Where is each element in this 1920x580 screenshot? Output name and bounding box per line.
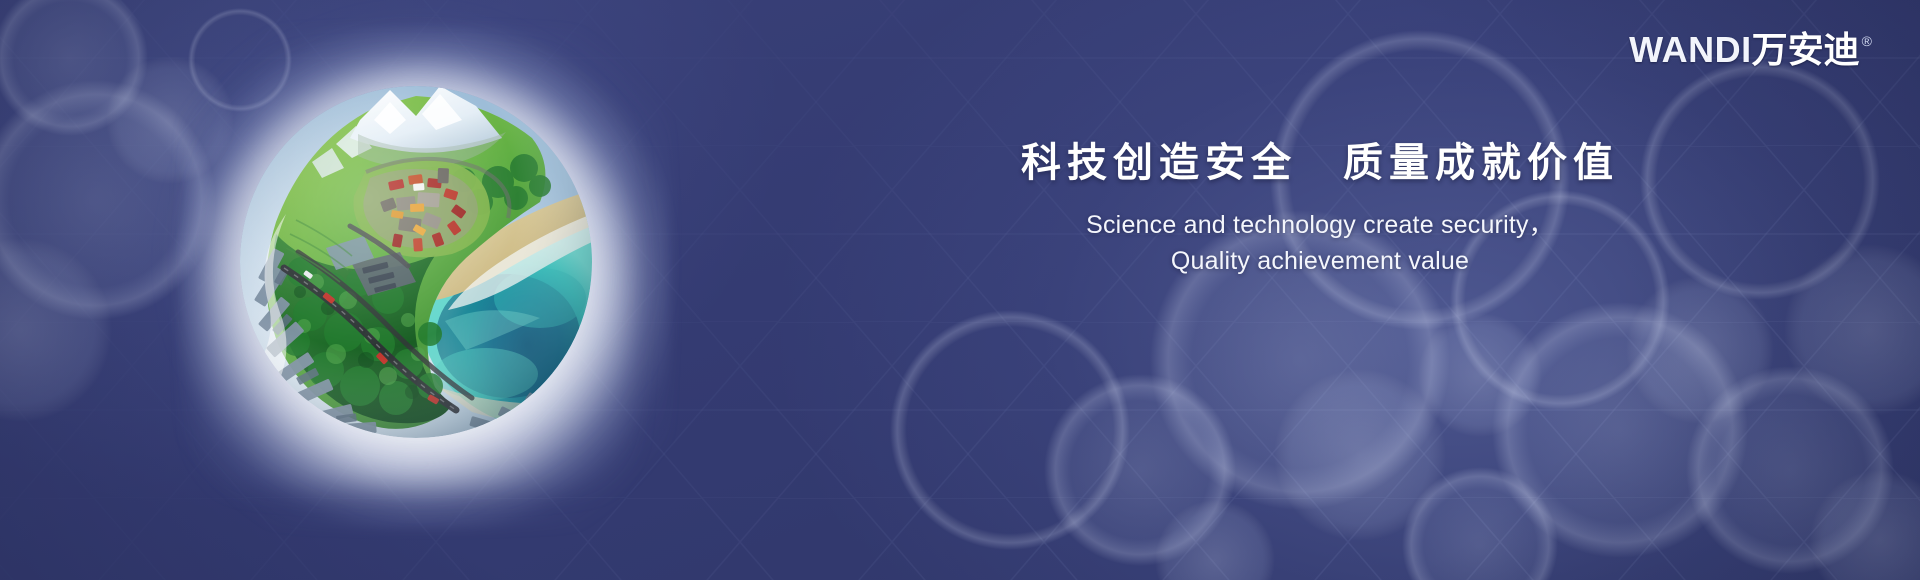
registered-trademark-icon: ® [1862,34,1872,48]
headline-chinese: 科技创造安全 质量成就价值 [820,140,1820,186]
subtitle-line-1: Science and technology create security， [820,208,1820,244]
brand-logo[interactable]: WANDI 万安迪 ® [1629,32,1872,68]
banner-copy: 科技创造安全 质量成就价值 Science and technology cre… [820,140,1820,279]
tiny-planet-icon [240,86,592,438]
logo-latin-text: WANDI [1629,32,1752,68]
globe-illustration [180,28,670,528]
hero-banner: WANDI 万安迪 ® 科技创造安全 质量成就价值 Science and te… [0,0,1920,580]
subtitle-line-2: Quality achievement value [820,244,1820,280]
logo-chinese-text: 万安迪 [1752,32,1860,68]
subtitle-english: Science and technology create security， … [820,208,1820,279]
